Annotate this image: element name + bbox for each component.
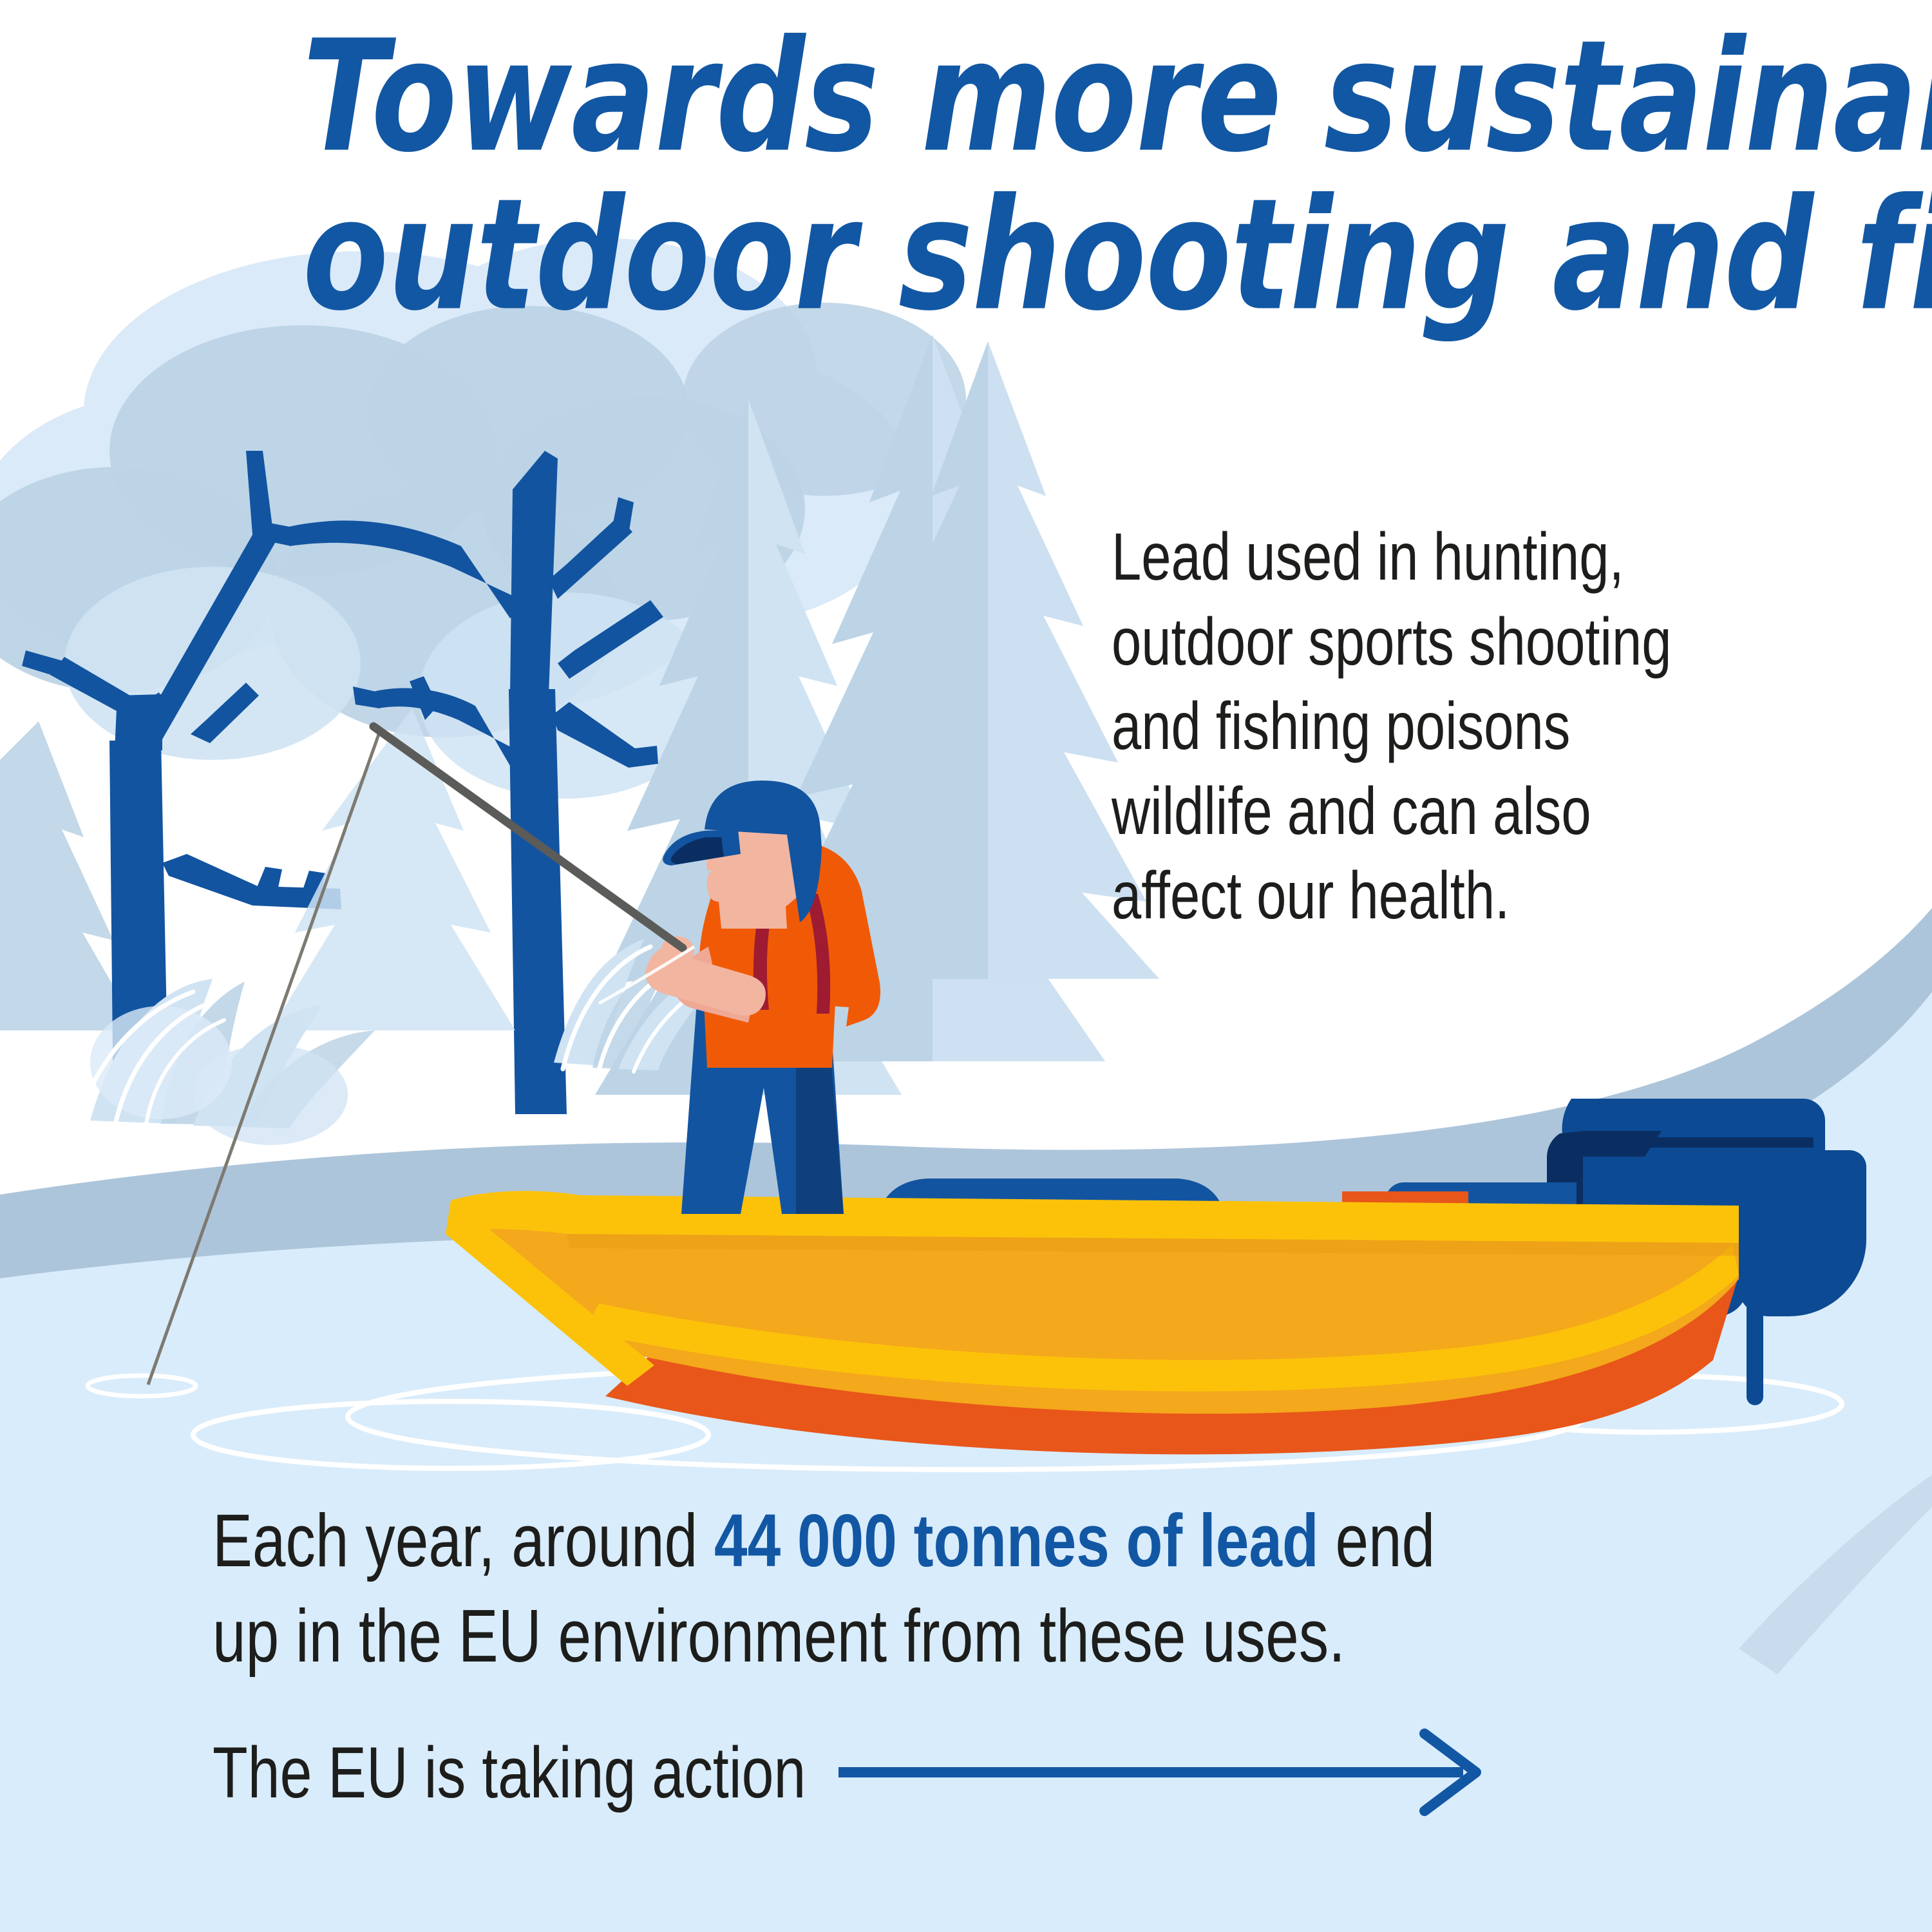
statement-block: Each year, around 44 000 tonnes of lead … [213, 1493, 1531, 1684]
statement-highlight: 44 000 tonnes of lead [714, 1499, 1319, 1582]
cta-label: The EU is taking action [213, 1731, 806, 1814]
statement-line-1: Each year, around 44 000 tonnes of lead … [213, 1493, 1531, 1588]
call-to-action[interactable]: The EU is taking action [213, 1721, 1515, 1824]
statement-prefix: Each year, around [213, 1499, 714, 1582]
infographic-poster: Towards more sustainable outdoor shootin… [0, 0, 1932, 1932]
statement-line-2: up in the EU environment from these uses… [213, 1588, 1531, 1683]
lead-line-3: and fishing poisons [1112, 685, 1745, 770]
arrow-right-icon [832, 1721, 1515, 1824]
lead-line-2: outdoor sports shooting [1112, 600, 1745, 685]
lead-paragraph: Lead used in hunting, outdoor sports sho… [1112, 515, 1745, 939]
lead-line-5: affect our health. [1112, 854, 1745, 939]
title-line-1: Towards more sustainable [303, 19, 1680, 176]
lead-line-1: Lead used in hunting, [1112, 515, 1745, 600]
lead-line-4: wildlife and can also [1112, 770, 1745, 855]
page-title: Towards more sustainable outdoor shootin… [303, 19, 1694, 307]
title-line-2: outdoor shooting and fishing [303, 178, 1680, 335]
statement-suffix: end [1319, 1499, 1435, 1582]
